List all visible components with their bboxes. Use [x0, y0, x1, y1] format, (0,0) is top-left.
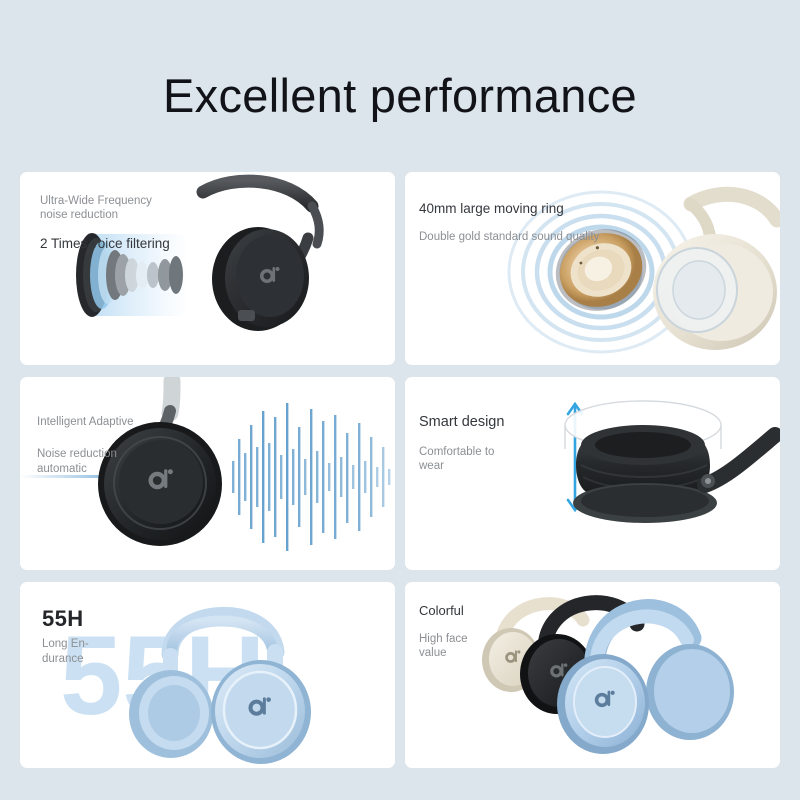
- page-title: Excellent performance: [0, 72, 800, 119]
- feature-card-battery[interactable]: 55H Long En- durance 55H: [20, 582, 395, 768]
- feature-card-smart-design[interactable]: Smart design Comfortable to wear: [405, 377, 780, 570]
- feature-card-grid: Ultra-Wide Frequency noise reduction 2 T…: [20, 172, 780, 772]
- card-5-product-image: 55H: [20, 582, 395, 768]
- card-1-product-image: [20, 172, 395, 365]
- feature-card-adaptive-anc[interactable]: Intelligent Adaptive Noise reduction aut…: [20, 377, 395, 570]
- feature-card-driver[interactable]: 40mm large moving ring Double gold stand…: [405, 172, 780, 365]
- card-2-product-image: [405, 172, 780, 365]
- feature-card-noise-reduction[interactable]: Ultra-Wide Frequency noise reduction 2 T…: [20, 172, 395, 365]
- feature-card-colors[interactable]: Colorful High face value: [405, 582, 780, 768]
- card-3-product-image: [20, 377, 395, 570]
- card-4-product-image: [405, 377, 780, 570]
- card-6-product-image: [405, 582, 780, 768]
